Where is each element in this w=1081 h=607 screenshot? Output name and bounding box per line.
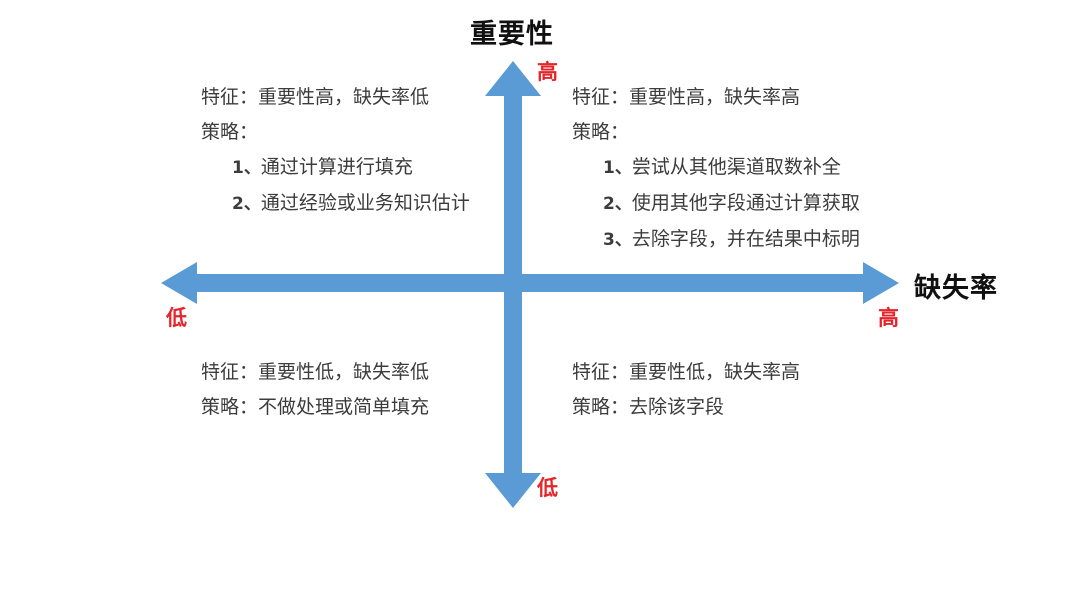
quadrant-feature-line: 特征：重要性高，缺失率高 <box>572 80 860 115</box>
quadrant-bottom-right: 特征：重要性低，缺失率高 策略：去除该字段 <box>572 355 800 425</box>
marker-importance-high: 高 <box>537 56 558 86</box>
list-number: 2、 <box>603 194 632 214</box>
list-text: 使用其他字段通过计算获取 <box>632 192 860 214</box>
marker-importance-low: 低 <box>537 472 558 502</box>
list-text: 去除字段，并在结果中标明 <box>632 228 860 250</box>
quadrant-strategy-item: 1、尝试从其他渠道取数补全 <box>572 150 860 186</box>
quadrant-top-left: 特征：重要性高，缺失率低 策略： 1、通过计算进行填充 2、通过经验或业务知识估… <box>201 80 470 222</box>
list-text: 通过经验或业务知识估计 <box>261 192 470 214</box>
quadrant-strategy-item: 3、去除字段，并在结果中标明 <box>572 222 860 258</box>
quadrant-top-right: 特征：重要性高，缺失率高 策略： 1、尝试从其他渠道取数补全 2、使用其他字段通… <box>572 80 860 258</box>
quadrant-feature-line: 特征：重要性低，缺失率高 <box>572 355 800 390</box>
marker-missingrate-low: 低 <box>166 302 187 332</box>
vertical-axis-title: 重要性 <box>470 12 554 51</box>
quadrant-feature-line: 特征：重要性高，缺失率低 <box>201 80 470 115</box>
quadrant-strategy-line: 策略：不做处理或简单填充 <box>201 390 429 425</box>
quadrant-strategy-item: 2、通过经验或业务知识估计 <box>201 186 470 222</box>
horizontal-axis-title: 缺失率 <box>914 266 998 305</box>
quadrant-diagram: 重要性 缺失率 高 低 低 高 特征：重要性高，缺失率低 策略： 1、通过计算进… <box>0 0 1081 607</box>
list-text: 尝试从其他渠道取数补全 <box>632 156 841 178</box>
right-arrow-icon <box>513 262 899 304</box>
list-number: 1、 <box>603 158 632 178</box>
quadrant-bottom-left: 特征：重要性低，缺失率低 策略：不做处理或简单填充 <box>201 355 429 425</box>
marker-missingrate-high: 高 <box>878 302 899 332</box>
quadrant-strategy-item: 1、通过计算进行填充 <box>201 150 470 186</box>
quadrant-strategy-label: 策略： <box>201 115 470 150</box>
down-arrow-icon <box>485 283 541 508</box>
quadrant-feature-line: 特征：重要性低，缺失率低 <box>201 355 429 390</box>
list-number: 3、 <box>603 230 632 250</box>
quadrant-strategy-item: 2、使用其他字段通过计算获取 <box>572 186 860 222</box>
left-arrow-icon <box>161 262 513 304</box>
list-text: 通过计算进行填充 <box>261 156 413 178</box>
up-arrow-icon <box>485 61 541 283</box>
quadrant-strategy-line: 策略：去除该字段 <box>572 390 800 425</box>
list-number: 2、 <box>232 194 261 214</box>
quadrant-strategy-label: 策略： <box>572 115 860 150</box>
list-number: 1、 <box>232 158 261 178</box>
